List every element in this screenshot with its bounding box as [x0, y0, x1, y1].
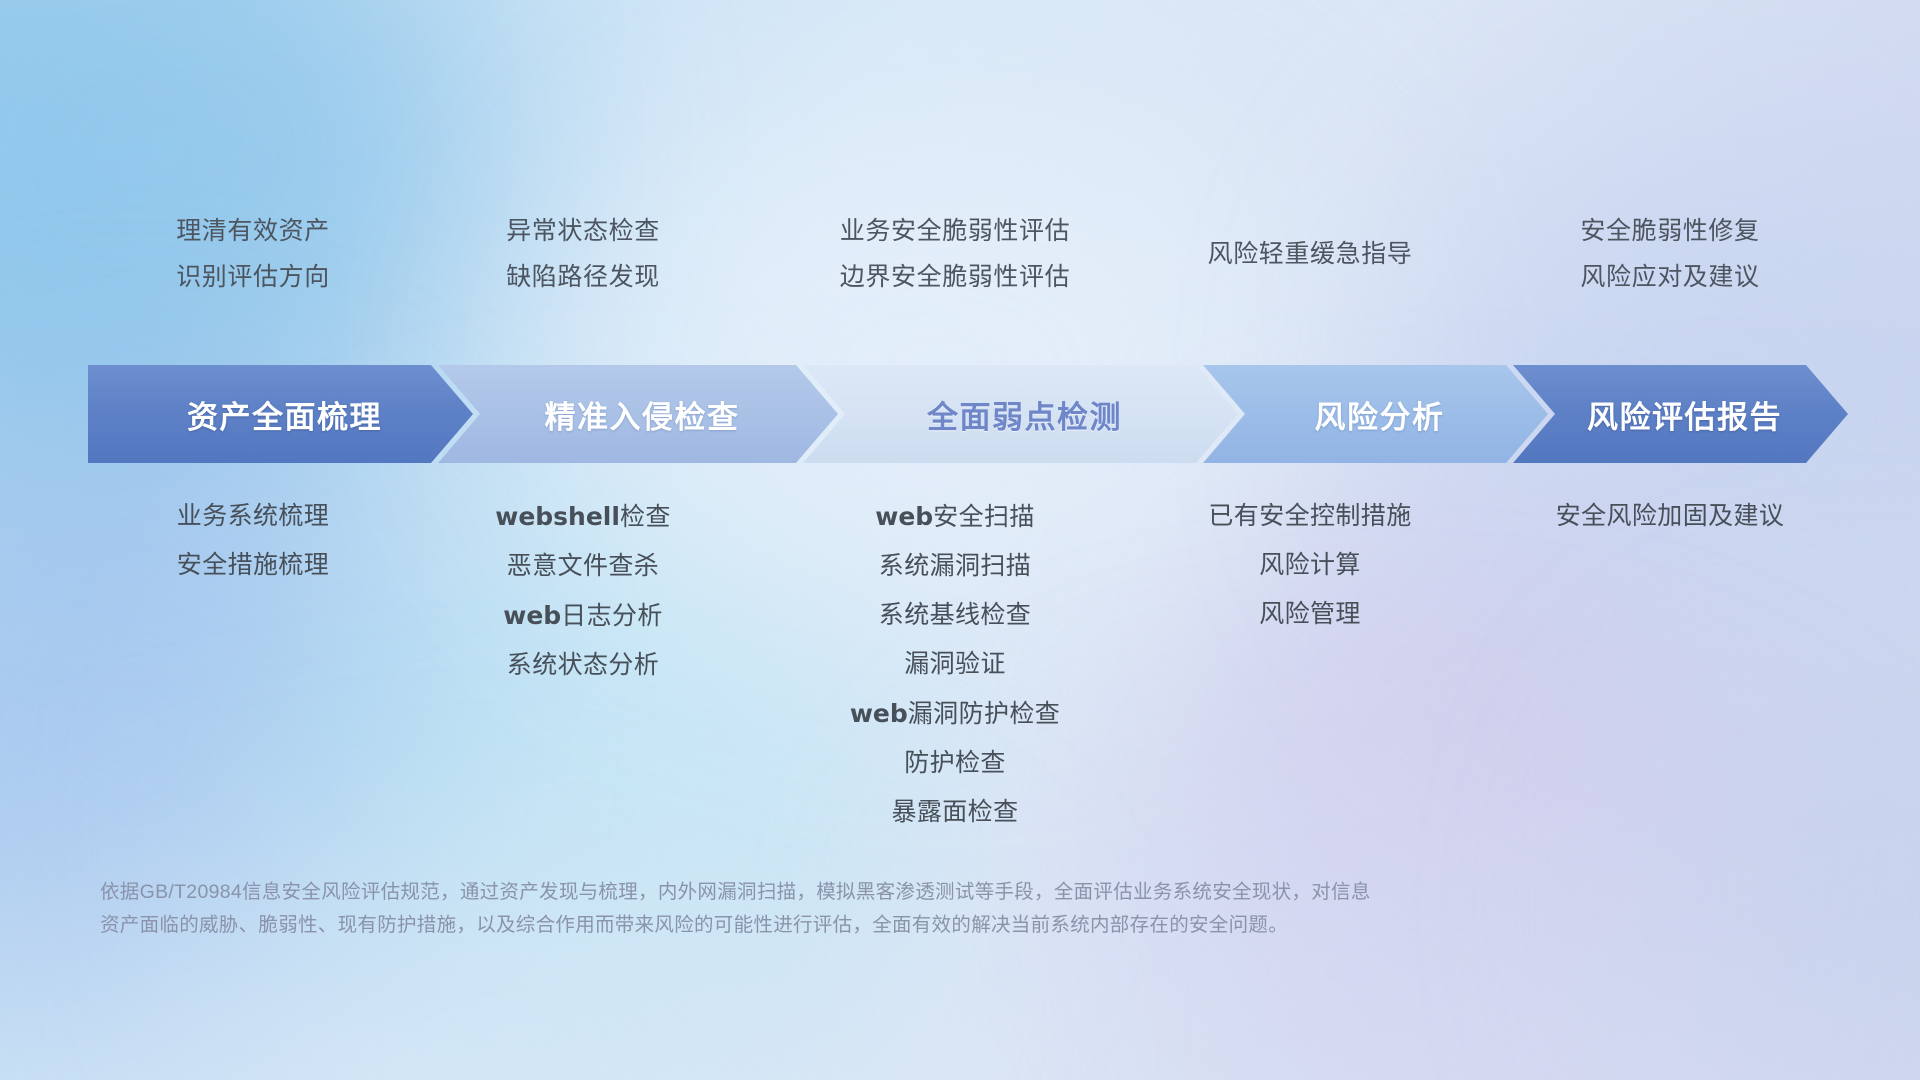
stage-activities-risk-report: 安全风险加固及建议 — [1490, 492, 1850, 541]
stage-activities-intrusion-check: webshell检查 恶意文件查杀 web日志分析 系统状态分析 — [418, 492, 748, 690]
process-stage-label: 精准入侵检查 — [537, 392, 740, 437]
stage-outcomes-risk-report: 安全脆弱性修复 风险应对及建议 — [1490, 208, 1850, 300]
activity-item: webshell检查 — [418, 492, 748, 542]
stage-outcomes-risk-analysis: 风险轻重缓急指导 — [1140, 231, 1480, 277]
process-stage-label: 全面弱点检测 — [919, 392, 1122, 437]
outcome-line: 风险应对及建议 — [1490, 254, 1850, 300]
stage-outcomes-intrusion-check: 异常状态检查 缺陷路径发现 — [418, 208, 748, 300]
activity-item: 业务系统梳理 — [88, 492, 418, 541]
stage-outcomes-asset-inventory: 理清有效资产 识别评估方向 — [88, 208, 418, 300]
activity-item: 已有安全控制措施 — [1140, 492, 1480, 541]
activity-item: web漏洞防护检查 — [770, 689, 1140, 739]
activity-item: 恶意文件查杀 — [418, 542, 748, 591]
process-stage-risk-analysis[interactable]: 风险分析 — [1203, 365, 1548, 463]
outcome-line: 异常状态检查 — [418, 208, 748, 254]
stage-outcomes-row: 理清有效资产 识别评估方向 异常状态检查 缺陷路径发现 业务安全脆弱性评估 边界… — [0, 228, 1920, 328]
activity-item: 风险计算 — [1140, 541, 1480, 590]
activity-item: 系统状态分析 — [418, 641, 748, 690]
activity-item: 漏洞验证 — [770, 640, 1140, 689]
slide-canvas: 理清有效资产 识别评估方向 异常状态检查 缺陷路径发现 业务安全脆弱性评估 边界… — [0, 0, 1920, 1080]
activity-item: 防护检查 — [770, 739, 1140, 788]
process-stage-label: 资产全面梳理 — [179, 392, 382, 437]
stage-activities-asset-inventory: 业务系统梳理 安全措施梳理 — [88, 492, 418, 590]
activity-item: 暴露面检查 — [770, 788, 1140, 837]
activity-item: web日志分析 — [418, 591, 748, 641]
footer-line: 资产面临的威胁、脆弱性、现有防护措施，以及综合作用而带来风险的可能性进行评估，全… — [100, 909, 1620, 942]
process-stage-label: 风险评估报告 — [1579, 392, 1782, 437]
activity-item: 安全风险加固及建议 — [1490, 492, 1850, 541]
activity-item: 风险管理 — [1140, 590, 1480, 639]
outcome-line: 缺陷路径发现 — [418, 254, 748, 300]
slide-content: 理清有效资产 识别评估方向 异常状态检查 缺陷路径发现 业务安全脆弱性评估 边界… — [0, 0, 1920, 1080]
activity-item: 系统漏洞扫描 — [770, 542, 1140, 591]
activity-item: 系统基线检查 — [770, 591, 1140, 640]
process-stage-label: 风险分析 — [1307, 392, 1445, 437]
footer-line: 依据GB/T20984信息安全风险评估规范，通过资产发现与梳理，内外网漏洞扫描，… — [100, 876, 1620, 909]
outcome-line: 识别评估方向 — [88, 254, 418, 300]
outcome-line: 边界安全脆弱性评估 — [760, 254, 1150, 300]
stage-outcomes-weakness-detection: 业务安全脆弱性评估 边界安全脆弱性评估 — [760, 208, 1150, 300]
outcome-line: 风险轻重缓急指导 — [1140, 231, 1480, 277]
footer-description: 依据GB/T20984信息安全风险评估规范，通过资产发现与梳理，内外网漏洞扫描，… — [100, 876, 1620, 942]
stage-activities-weakness-detection: web安全扫描 系统漏洞扫描 系统基线检查 漏洞验证 web漏洞防护检查 防护检… — [770, 492, 1140, 837]
outcome-line: 安全脆弱性修复 — [1490, 208, 1850, 254]
stage-activities-risk-analysis: 已有安全控制措施 风险计算 风险管理 — [1140, 492, 1480, 639]
process-chevron-bar: 资产全面梳理 精准入侵检查 全面弱点检测 风险分析 风险评估报告 — [88, 365, 1848, 463]
activity-item: web安全扫描 — [770, 492, 1140, 542]
outcome-line: 理清有效资产 — [88, 208, 418, 254]
outcome-line: 业务安全脆弱性评估 — [760, 208, 1150, 254]
process-stage-risk-report[interactable]: 风险评估报告 — [1513, 365, 1848, 463]
process-stage-asset-inventory[interactable]: 资产全面梳理 — [88, 365, 473, 463]
process-stage-weakness-detection[interactable]: 全面弱点检测 — [803, 365, 1238, 463]
process-stage-intrusion-check[interactable]: 精准入侵检查 — [438, 365, 838, 463]
activity-item: 安全措施梳理 — [88, 541, 418, 590]
